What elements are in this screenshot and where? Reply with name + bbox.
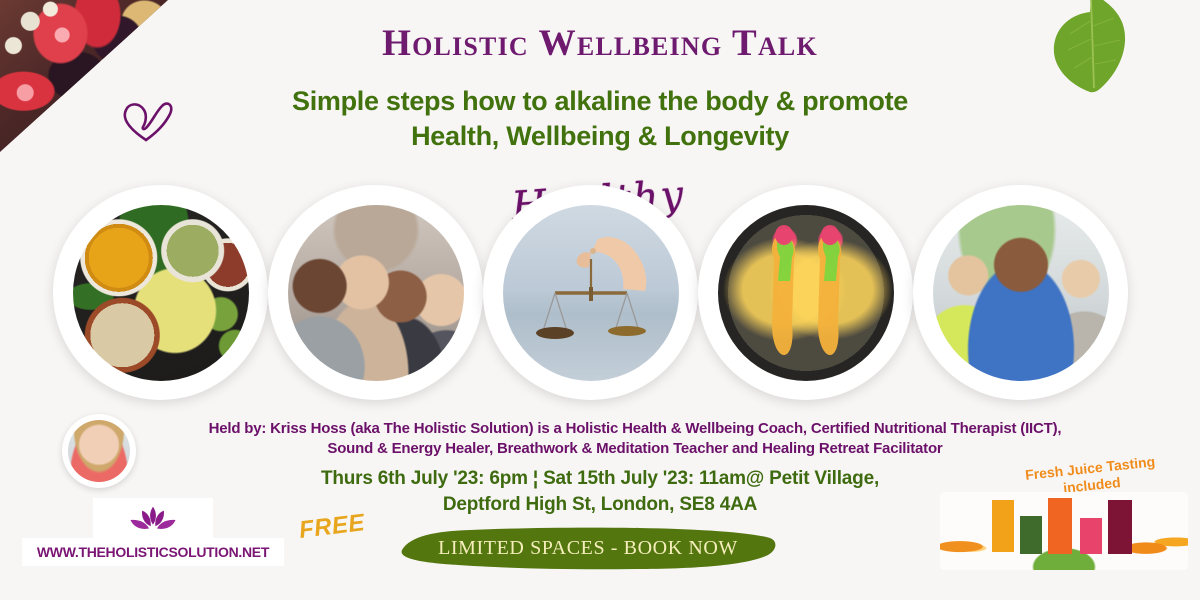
aura-energy-bodies-image [718, 205, 894, 381]
page-title: Holistic Wellbeing Talk [0, 22, 1200, 65]
gallery-item-balance-scales [483, 185, 698, 400]
group-of-women-image [288, 205, 464, 381]
brand-logo [93, 498, 213, 542]
website-url[interactable]: WWW.THEHOLISTICSOLUTION.NET [22, 538, 284, 566]
presenter-bio-line-2: Sound & Energy Healer, Breathwork & Medi… [130, 439, 1140, 459]
photo-gallery [0, 185, 1200, 410]
gallery-item-healthy-food [53, 185, 268, 400]
meditation-class-image [933, 205, 1109, 381]
juice-glasses-image [940, 492, 1188, 570]
healthy-food-flatlay-image [73, 205, 249, 381]
balance-scales-image [503, 205, 679, 381]
subtitle-line-2: Health, Wellbeing & Longevity [0, 119, 1200, 154]
gallery-item-aura-bodies [698, 185, 913, 400]
presenter-bio-line-1: Held by: Kriss Hoss (aka The Holistic So… [130, 419, 1140, 439]
subtitle-line-1: Simple steps how to alkaline the body & … [0, 84, 1200, 119]
gallery-item-group-of-women [268, 185, 483, 400]
gallery-item-meditation-class [913, 185, 1128, 400]
book-now-label: LIMITED SPACES - BOOK NOW [438, 537, 738, 560]
event-flyer: Holistic Wellbeing Talk Simple steps how… [0, 0, 1200, 600]
lotus-icon [118, 503, 188, 537]
page-subtitle: Simple steps how to alkaline the body & … [0, 84, 1200, 153]
presenter-bio: Held by: Kriss Hoss (aka The Holistic So… [130, 419, 1140, 459]
book-now-button[interactable]: LIMITED SPACES - BOOK NOW [396, 524, 780, 572]
